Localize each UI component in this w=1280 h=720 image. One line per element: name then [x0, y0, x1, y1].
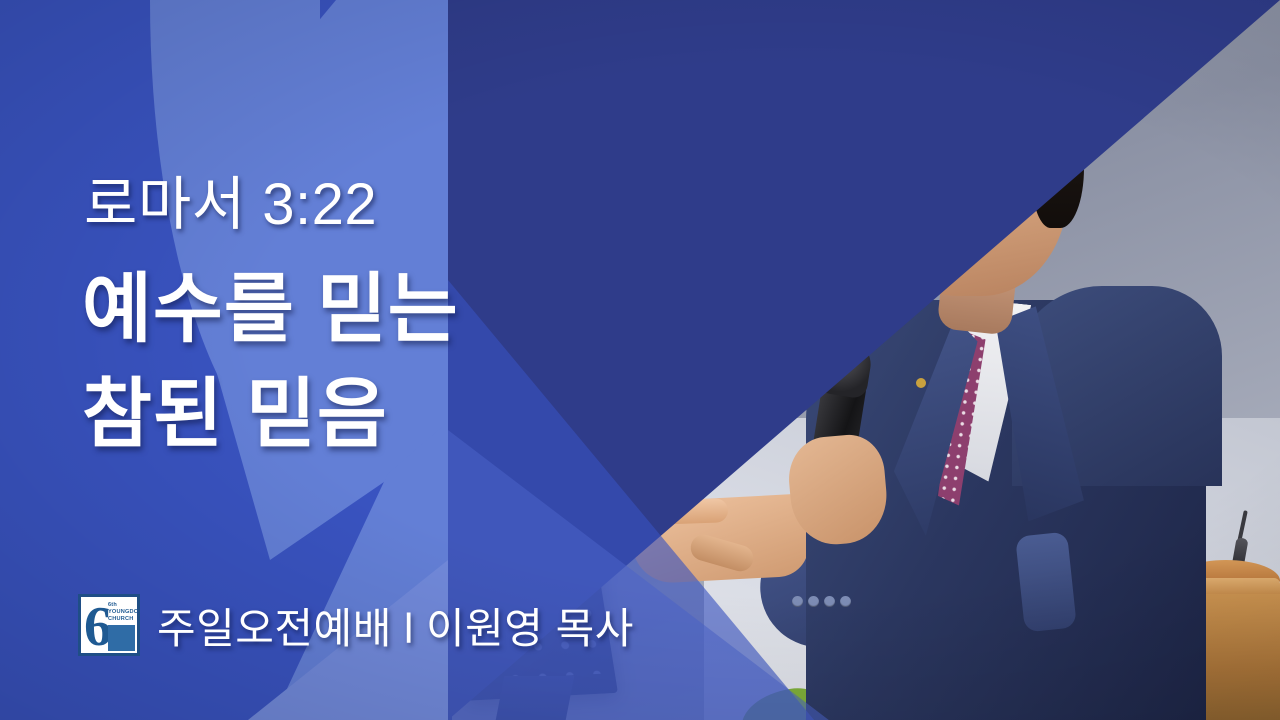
logo-wordmark: 6th YOUNGDO CHURCH — [108, 602, 138, 623]
scripture-reference: 로마서 3:22 — [84, 157, 377, 241]
service-and-speaker-label: 주일오전예배 l 이원영 목사 — [157, 595, 634, 656]
title-text-layer: 로마서 3:22 예수를 믿는 참된 믿음 6 6th YOUNGDO CHUR… — [0, 0, 1280, 720]
sermon-title-card: 로마서 3:22 예수를 믿는 참된 믿음 6 6th YOUNGDO CHUR… — [0, 0, 1280, 720]
sermon-title: 예수를 믿는 참된 믿음 — [82, 258, 459, 468]
church-logo: 6 6th YOUNGDO CHURCH — [78, 594, 140, 656]
logo-square-accent — [108, 625, 135, 651]
footer-bar: 6 6th YOUNGDO CHURCH 주일오전예배 l 이원영 목사 — [78, 594, 634, 656]
